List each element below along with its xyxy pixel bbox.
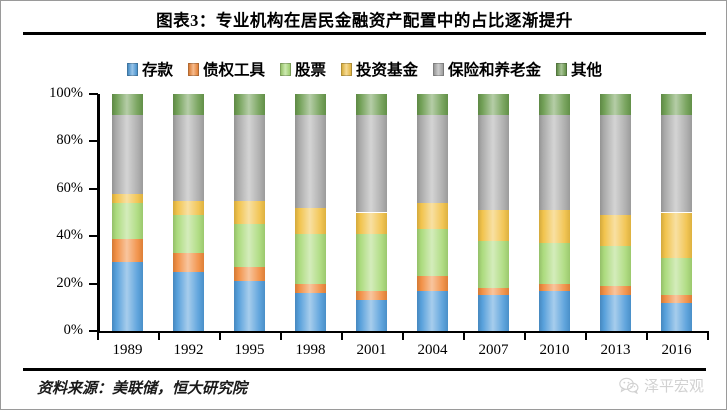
watermark-label: 泽平宏观 bbox=[644, 375, 704, 396]
y-axis-tick bbox=[89, 93, 98, 95]
bar-segment-other bbox=[417, 94, 448, 115]
stacked-bar-1998[interactable] bbox=[295, 94, 326, 331]
bar-segment-other bbox=[234, 94, 265, 115]
bar-segment-funds bbox=[417, 203, 448, 229]
x-axis-tick bbox=[646, 332, 648, 340]
bar-segment-other bbox=[661, 94, 692, 115]
bar-segment-debt bbox=[478, 288, 509, 295]
y-axis-tick-label: 20% bbox=[37, 275, 83, 292]
bar-segment-funds bbox=[539, 210, 570, 243]
bar-segment-stocks bbox=[600, 246, 631, 286]
bar-segment-insurance bbox=[661, 115, 692, 212]
y-axis-tick bbox=[89, 283, 98, 285]
bar-segment-other bbox=[295, 94, 326, 115]
bar-segment-insurance bbox=[600, 115, 631, 215]
bar-segment-insurance bbox=[417, 115, 448, 203]
bar-segment-other bbox=[539, 94, 570, 115]
wechat-icon bbox=[619, 377, 639, 394]
x-axis-tick-label: 1992 bbox=[159, 342, 219, 359]
bar-segment-deposits bbox=[234, 281, 265, 331]
bar-segment-stocks bbox=[539, 243, 570, 283]
bar-segment-other bbox=[356, 94, 387, 115]
bar-segment-stocks bbox=[478, 241, 509, 288]
stacked-bar-1989[interactable] bbox=[112, 94, 143, 331]
bar-segment-debt bbox=[661, 295, 692, 302]
y-axis-tick-label: 80% bbox=[37, 132, 83, 149]
stacked-bar-1995[interactable] bbox=[234, 94, 265, 331]
bar-segment-debt bbox=[417, 276, 448, 290]
y-axis-tick bbox=[89, 140, 98, 142]
x-axis-tick bbox=[402, 332, 404, 340]
x-axis-tick bbox=[524, 332, 526, 340]
bar-segment-other bbox=[600, 94, 631, 115]
y-axis-tick-label: 0% bbox=[37, 322, 83, 339]
bar-segment-stocks bbox=[112, 203, 143, 239]
bar-segment-stocks bbox=[173, 215, 204, 253]
bar-segment-insurance bbox=[173, 115, 204, 200]
x-axis-tick-label: 1989 bbox=[98, 342, 158, 359]
bar-segment-insurance bbox=[539, 115, 570, 210]
bar-segment-stocks bbox=[661, 258, 692, 296]
bar-segment-funds bbox=[112, 194, 143, 203]
bar-segment-stocks bbox=[295, 234, 326, 284]
bar-segment-deposits bbox=[295, 293, 326, 331]
bar-segment-deposits bbox=[112, 262, 143, 331]
bar-segment-deposits bbox=[600, 295, 631, 331]
y-axis-tick-label: 100% bbox=[37, 85, 83, 102]
stacked-bar-1992[interactable] bbox=[173, 94, 204, 331]
stacked-bar-2004[interactable] bbox=[417, 94, 448, 331]
bar-segment-funds bbox=[295, 208, 326, 234]
x-axis-tick bbox=[219, 332, 221, 340]
y-axis-line bbox=[97, 94, 100, 332]
x-axis-tick-label: 1995 bbox=[220, 342, 280, 359]
bar-segment-insurance bbox=[234, 115, 265, 200]
bar-segment-stocks bbox=[234, 224, 265, 267]
bar-segment-insurance bbox=[478, 115, 509, 210]
x-axis-tick bbox=[463, 332, 465, 340]
stacked-bar-2010[interactable] bbox=[539, 94, 570, 331]
x-axis-tick bbox=[97, 332, 99, 340]
x-axis-tick-label: 2016 bbox=[647, 342, 707, 359]
watermark: 泽平宏观 bbox=[619, 375, 704, 396]
stacked-bar-2007[interactable] bbox=[478, 94, 509, 331]
footer-divider bbox=[23, 368, 706, 371]
stacked-bar-2016[interactable] bbox=[661, 94, 692, 331]
bar-segment-debt bbox=[234, 267, 265, 281]
y-axis-tick bbox=[89, 235, 98, 237]
stacked-bar-2001[interactable] bbox=[356, 94, 387, 331]
bar-segment-funds bbox=[173, 201, 204, 215]
bar-segment-deposits bbox=[173, 272, 204, 331]
bar-segment-funds bbox=[234, 201, 265, 225]
source-note: 资料来源：美联储，恒大研究院 bbox=[37, 377, 247, 398]
x-axis-tick bbox=[158, 332, 160, 340]
bar-segment-deposits bbox=[661, 303, 692, 331]
bar-segment-insurance bbox=[295, 115, 326, 207]
bar-segment-insurance bbox=[112, 115, 143, 193]
bar-segment-debt bbox=[356, 291, 387, 300]
bar-segment-deposits bbox=[478, 295, 509, 331]
bar-segment-stocks bbox=[417, 229, 448, 276]
bar-segment-deposits bbox=[356, 300, 387, 331]
x-axis-tick-label: 2001 bbox=[342, 342, 402, 359]
x-axis-tick-label: 2004 bbox=[403, 342, 463, 359]
bar-segment-other bbox=[173, 94, 204, 115]
stacked-bar-2013[interactable] bbox=[600, 94, 631, 331]
bar-segment-deposits bbox=[417, 291, 448, 331]
bar-segment-other bbox=[478, 94, 509, 115]
y-axis-tick bbox=[89, 188, 98, 190]
bar-segment-debt bbox=[112, 239, 143, 263]
bar-segment-debt bbox=[539, 284, 570, 291]
bar-segment-funds bbox=[661, 213, 692, 258]
bar-segment-funds bbox=[600, 215, 631, 246]
x-axis-tick-label: 1998 bbox=[281, 342, 341, 359]
x-axis-tick-label: 2007 bbox=[464, 342, 524, 359]
bar-segment-other bbox=[112, 94, 143, 115]
x-axis-tick bbox=[585, 332, 587, 340]
x-axis-tick bbox=[341, 332, 343, 340]
y-axis-tick-label: 60% bbox=[37, 180, 83, 197]
x-axis-tick bbox=[707, 332, 709, 340]
x-axis-tick-label: 2013 bbox=[586, 342, 646, 359]
bar-segment-funds bbox=[356, 213, 387, 234]
y-axis-tick-label: 40% bbox=[37, 227, 83, 244]
x-axis-tick bbox=[280, 332, 282, 340]
bar-segment-deposits bbox=[539, 291, 570, 331]
chart-figure: 图表3：专业机构在居民金融资产配置中的占比逐渐提升 存款债权工具股票投资基金保险… bbox=[0, 0, 727, 410]
bar-segment-debt bbox=[600, 286, 631, 295]
bar-segment-debt bbox=[173, 253, 204, 272]
x-axis-tick-label: 2010 bbox=[525, 342, 585, 359]
bar-segment-stocks bbox=[356, 234, 387, 291]
bar-segment-debt bbox=[295, 284, 326, 293]
bar-segment-insurance bbox=[356, 115, 387, 212]
plot-area: 0%20%40%60%80%100%1989199219951998200120… bbox=[1, 1, 727, 410]
bar-segment-funds bbox=[478, 210, 509, 241]
